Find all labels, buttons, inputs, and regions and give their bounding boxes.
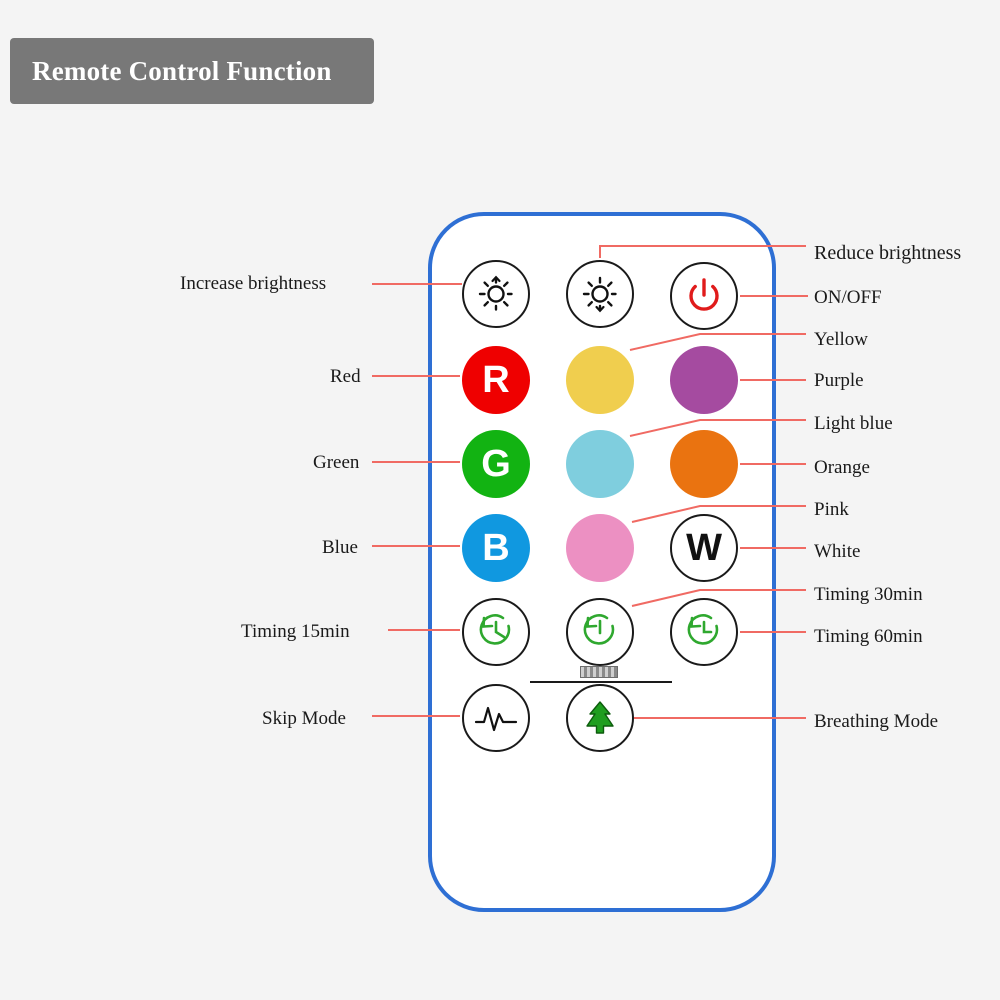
button-timing-15min[interactable]: [462, 598, 530, 666]
label-reduce-brightness: Reduce brightness: [814, 243, 961, 263]
label-timing-15min: Timing 15min: [241, 622, 350, 641]
sun-up-icon: [474, 272, 518, 316]
label-white: White: [814, 542, 860, 561]
sun-down-icon: [578, 272, 622, 316]
label-increase-brightness: Increase brightness: [180, 274, 326, 293]
button-light-blue[interactable]: [566, 430, 634, 498]
clock-arrow-icon: [473, 609, 519, 655]
button-pink[interactable]: [566, 514, 634, 582]
label-timing-30min: Timing 30min: [814, 585, 923, 604]
button-breathing-mode[interactable]: [566, 684, 634, 752]
label-skip-mode: Skip Mode: [262, 709, 346, 728]
button-red[interactable]: R: [462, 346, 530, 414]
button-green[interactable]: G: [462, 430, 530, 498]
button-blue[interactable]: B: [462, 514, 530, 582]
button-increase-brightness[interactable]: [462, 260, 530, 328]
label-red: Red: [330, 367, 361, 386]
button-yellow[interactable]: [566, 346, 634, 414]
label-timing-60min: Timing 60min: [814, 627, 923, 646]
clock-arrow-icon: [577, 609, 623, 655]
label-breathing-mode: Breathing Mode: [814, 712, 938, 731]
label-green: Green: [313, 453, 359, 472]
button-white-label: W: [686, 529, 722, 567]
label-pink: Pink: [814, 500, 849, 519]
button-purple[interactable]: [670, 346, 738, 414]
title-banner: Remote Control Function: [10, 38, 374, 104]
button-skip-mode[interactable]: [462, 684, 530, 752]
button-timing-60min[interactable]: [670, 598, 738, 666]
clock-arrow-icon: [681, 609, 727, 655]
button-reduce-brightness[interactable]: [566, 260, 634, 328]
battery-cover-notch: [580, 666, 618, 678]
label-on-off: ON/OFF: [814, 288, 882, 307]
button-white[interactable]: W: [670, 514, 738, 582]
label-purple: Purple: [814, 371, 864, 390]
power-icon: [684, 276, 724, 316]
button-timing-30min[interactable]: [566, 598, 634, 666]
label-light-blue: Light blue: [814, 414, 893, 433]
pulse-icon: [472, 700, 520, 736]
page-title: Remote Control Function: [10, 56, 332, 87]
tree-icon: [578, 696, 622, 740]
button-blue-label: B: [482, 529, 509, 567]
button-orange[interactable]: [670, 430, 738, 498]
button-red-label: R: [482, 361, 509, 399]
button-green-label: G: [481, 445, 511, 483]
label-yellow: Yellow: [814, 330, 868, 349]
button-on-off[interactable]: [670, 262, 738, 330]
label-blue: Blue: [322, 538, 358, 557]
label-orange: Orange: [814, 458, 870, 477]
